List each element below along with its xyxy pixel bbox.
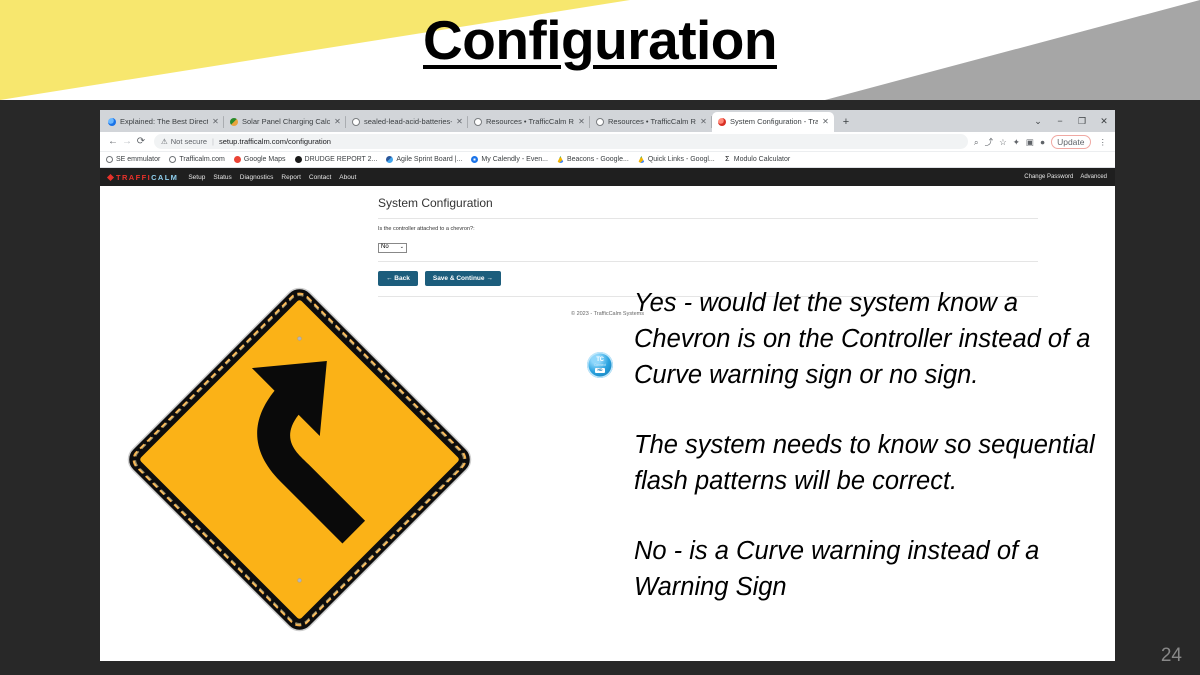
advanced-link[interactable]: Advanced: [1080, 174, 1107, 180]
curve-arrow-icon: [123, 283, 477, 637]
bookmark-label: DRUDGE REPORT 2...: [305, 156, 378, 163]
bookmark-item[interactable]: Σ Modulo Calculator: [724, 156, 790, 163]
text-paragraph-system: The system needs to know so sequential f…: [634, 427, 1112, 499]
logo-text-red: TRAFFI: [116, 173, 151, 182]
nav-item-diagnostics[interactable]: Diagnostics: [240, 174, 274, 181]
site-navbar: TRAFFICALM Setup Status Diagnostics Repo…: [100, 168, 1115, 186]
text-paragraph-no: No - is a Curve warning instead of a War…: [634, 533, 1112, 605]
change-password-link[interactable]: Change Password: [1024, 174, 1073, 180]
tab-close-icon[interactable]: ✕: [699, 118, 708, 126]
tc-connect-badge-icon: TC Connect HD: [587, 352, 613, 378]
drudge-icon: [295, 156, 302, 163]
tab-favicon-icon: [108, 118, 116, 126]
reload-icon[interactable]: ⟳: [134, 136, 148, 147]
not-secure-warning-icon: ⚠: [161, 137, 168, 146]
chevron-down-icon[interactable]: ⌄: [1027, 110, 1049, 132]
bookmark-item[interactable]: My Calendly - Even...: [471, 156, 548, 163]
bookmark-item[interactable]: DRUDGE REPORT 2...: [295, 156, 378, 163]
tab-label: Solar Panel Charging Calculation: [242, 117, 330, 127]
bookmark-item[interactable]: Beacons - Google...: [557, 156, 629, 163]
form-button-row: ← Back Save & Continue →: [378, 271, 1115, 286]
tab-favicon-icon: [596, 118, 604, 126]
bookmark-label: Google Maps: [244, 156, 286, 163]
more-menu-icon[interactable]: ⋮: [1099, 137, 1108, 147]
browser-tab[interactable]: Solar Panel Charging Calculation ✕: [224, 112, 346, 132]
bookmark-label: Quick Links - Googl...: [648, 156, 715, 163]
forward-icon[interactable]: →: [120, 136, 134, 147]
nav-item-report[interactable]: Report: [281, 174, 301, 181]
calendly-icon: [471, 156, 478, 163]
globe-icon: [169, 156, 176, 163]
browser-tab[interactable]: Explained: The Best Direction for ✕: [102, 112, 224, 132]
chevron-select-value: No: [381, 243, 389, 252]
maximize-icon[interactable]: ❐: [1071, 110, 1093, 132]
address-bar[interactable]: ⚠ Not secure | setup.trafficalm.com /con…: [154, 134, 968, 149]
url-domain: setup.trafficalm.com: [219, 137, 286, 146]
tab-close-icon[interactable]: ✕: [821, 118, 830, 126]
tab-close-icon[interactable]: ✕: [577, 118, 586, 126]
slide-header: Configuration: [0, 0, 1200, 100]
browser-toolbar-icons: ⌕ ⤴ ☆ ✦ ▣ ● Update ⋮: [974, 135, 1109, 149]
bookmark-label: SE emmulator: [116, 156, 160, 163]
bookmark-item[interactable]: SE emmulator: [106, 156, 160, 163]
bookmark-item[interactable]: Agile Sprint Board |...: [386, 156, 462, 163]
nav-item-status[interactable]: Status: [213, 174, 231, 181]
tab-label: System Configuration - TrafficCalm: [730, 117, 818, 127]
tab-label: Resources • TrafficCalm Radar Spe: [608, 117, 696, 127]
nav-item-contact[interactable]: Contact: [309, 174, 331, 181]
nav-item-about[interactable]: About: [339, 174, 356, 181]
back-icon[interactable]: ←: [106, 136, 120, 147]
badge-line-3: HD: [595, 368, 605, 373]
side-panel-icon[interactable]: ▣: [1026, 137, 1034, 147]
tab-favicon-icon: [718, 118, 726, 126]
profile-avatar-icon[interactable]: ●: [1040, 137, 1045, 147]
close-icon[interactable]: ✕: [1093, 110, 1115, 132]
search-icon[interactable]: ⌕: [974, 137, 979, 147]
chevron-question-label: Is the controller attached to a chevron?…: [378, 226, 1115, 232]
chevron-select[interactable]: No ⌄: [378, 243, 407, 253]
map-pin-icon: [232, 155, 242, 165]
logo-text-blue: CALM: [151, 173, 178, 182]
extensions-puzzle-icon[interactable]: ✦: [1013, 137, 1020, 147]
badge-line-2: Connect: [594, 363, 606, 367]
window-controls: ⌄ − ❐ ✕: [1027, 110, 1115, 132]
browser-tab-active[interactable]: System Configuration - TrafficCalm ✕: [712, 112, 834, 132]
new-tab-button[interactable]: +: [837, 113, 855, 131]
bookmark-label: Modulo Calculator: [734, 156, 790, 163]
page-title: Configuration: [0, 8, 1200, 72]
bookmark-item[interactable]: Trafficalm.com: [169, 156, 225, 163]
globe-icon: [106, 156, 113, 163]
bookmark-label: Trafficalm.com: [179, 156, 225, 163]
slide-number: 24: [1161, 645, 1182, 667]
curve-warning-sign-image: [122, 282, 477, 637]
tab-close-icon[interactable]: ✕: [455, 118, 464, 126]
tab-label: Explained: The Best Direction for: [120, 117, 208, 127]
bookmark-item[interactable]: Quick Links - Googl...: [638, 156, 715, 163]
nav-item-setup[interactable]: Setup: [188, 174, 205, 181]
update-button[interactable]: Update: [1051, 135, 1090, 149]
minimize-icon[interactable]: −: [1049, 110, 1071, 132]
browser-tab-strip: Explained: The Best Direction for ✕ Sola…: [100, 110, 1115, 132]
tab-favicon-icon: [352, 118, 360, 126]
browser-tab[interactable]: sealed-lead-acid-batteries-techn ✕: [346, 112, 468, 132]
sigma-icon: Σ: [724, 156, 731, 163]
bookmark-label: My Calendly - Even...: [481, 156, 548, 163]
google-drive-icon: [638, 156, 645, 163]
omnibox-divider: |: [212, 137, 214, 146]
bookmark-label: Beacons - Google...: [567, 156, 629, 163]
tab-label: sealed-lead-acid-batteries-techn: [364, 117, 452, 127]
diamond-icon: [107, 173, 114, 180]
trafficalm-logo[interactable]: TRAFFICALM: [108, 173, 178, 182]
text-paragraph-yes: Yes - would let the system know a Chevro…: [634, 285, 1112, 393]
bookmarks-bar: SE emmulator Trafficalm.com Google Maps …: [100, 152, 1115, 168]
explanatory-text: Yes - would let the system know a Chevro…: [634, 285, 1112, 605]
tab-favicon-icon: [230, 118, 238, 126]
tab-favicon-icon: [474, 118, 482, 126]
planner-icon: [386, 156, 393, 163]
divider: [378, 218, 1038, 219]
system-configuration-heading: System Configuration: [378, 196, 1115, 210]
site-account-links: Change Password Advanced: [1024, 174, 1107, 180]
chevron-down-icon: ⌄: [400, 243, 404, 252]
bookmark-star-icon[interactable]: ☆: [999, 137, 1007, 147]
browser-tab[interactable]: Resources • TrafficCalm Radar Spe ✕: [468, 112, 590, 132]
browser-tab[interactable]: Resources • TrafficCalm Radar Spe ✕: [590, 112, 712, 132]
url-path: /configuration: [286, 137, 331, 146]
tab-close-icon[interactable]: ✕: [333, 118, 342, 126]
google-drive-icon: [557, 156, 564, 163]
divider: [378, 261, 1038, 262]
share-icon[interactable]: ⤴: [985, 137, 994, 147]
browser-nav-bar: ← → ⟳ ⚠ Not secure | setup.trafficalm.co…: [100, 132, 1115, 152]
tab-close-icon[interactable]: ✕: [211, 118, 220, 126]
tab-label: Resources • TrafficCalm Radar Spe: [486, 117, 574, 127]
not-secure-label: Not secure: [171, 137, 207, 146]
site-menu: Setup Status Diagnostics Report Contact …: [188, 174, 356, 181]
bookmark-item[interactable]: Google Maps: [234, 156, 286, 163]
bookmark-label: Agile Sprint Board |...: [396, 156, 462, 163]
